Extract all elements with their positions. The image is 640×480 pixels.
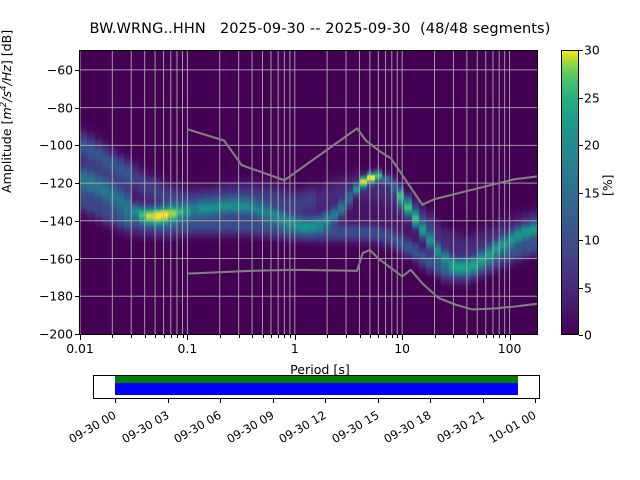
x-tick [239,335,240,338]
figure-title: BW.WRNG..HHN 2025-09-30 -- 2025-09-30 (4… [0,21,640,37]
timeline-tick-label: 09-30 03 [111,408,172,451]
y-tick [75,145,80,146]
colorbar-label: [%] [600,175,615,196]
data-coverage-axes [93,375,540,399]
noise-model-curves [80,51,537,334]
y-tick-label: −60 [31,62,73,77]
x-tick [435,335,436,338]
x-tick [386,335,387,338]
x-tick [131,335,132,338]
timeline-tick [168,399,169,403]
x-tick-label: 10 [394,341,410,356]
timeline-tick [430,399,431,403]
colorbar-tick [579,240,583,241]
x-tick [486,335,487,338]
y-tick-label: −140 [31,213,73,228]
x-tick [505,335,506,338]
y-tick-label: −100 [31,138,73,153]
y-tick [75,183,80,184]
y-tick [75,108,80,109]
timeline-tick-label: 09-30 00 [58,408,119,451]
colorbar-tick-label: 25 [584,90,600,105]
timeline-tick-label: 09-30 18 [373,408,434,451]
coverage-bar-blue [115,383,517,395]
y-tick [75,259,80,260]
ppsd-figure: BW.WRNG..HHN 2025-09-30 -- 2025-09-30 (4… [0,0,640,480]
timeline-tick-label: 10-01 00 [478,408,539,451]
colorbar-tick-label: 5 [584,280,592,295]
x-tick [370,335,371,338]
x-tick-label: 0.01 [66,341,94,356]
timeline-tick-label: 09-30 09 [216,408,277,451]
x-tick [378,335,379,338]
x-tick [164,335,165,338]
y-axis-label-m-exp: 2 [0,102,9,107]
x-tick [284,335,285,338]
timeline-tick [378,399,379,403]
x-tick [499,335,500,338]
y-axis-label-prefix: Amplitude [ [0,120,14,193]
y-axis-label-s-exp: 4 [0,86,9,91]
x-tick [220,335,221,338]
coverage-bar-green [115,376,517,383]
x-tick [171,335,172,338]
colorbar-tick [579,288,583,289]
y-tick-label: −180 [31,289,73,304]
x-tick [155,335,156,338]
timeline-tick-label: 09-30 12 [268,408,329,451]
colorbar-tick [579,50,583,51]
timeline-tick [535,399,536,403]
x-tick [252,335,253,338]
x-tick [145,335,146,338]
x-tick-label: 0.1 [178,341,198,356]
y-axis-label: Amplitude [m2/s4/Hz] [dB] [0,30,14,193]
x-tick [493,335,494,338]
x-tick [177,335,178,338]
x-tick [183,335,184,338]
colorbar-tick-label: 0 [584,328,592,343]
x-tick [397,335,398,338]
timeline-tick-label: 09-30 21 [426,408,487,451]
y-tick-label: −200 [31,327,73,342]
timeline-tick [220,399,221,403]
colorbar-tick-label: 30 [584,43,600,58]
colorbar-tick [579,145,583,146]
x-tick [453,335,454,338]
y-tick-label: −80 [31,100,73,115]
timeline-tick [115,399,116,403]
timeline-tick [325,399,326,403]
x-tick [327,335,328,338]
timeline-tick-label: 09-30 15 [321,408,382,451]
x-tick-label: 100 [498,341,522,356]
colorbar-tick [579,98,583,99]
timeline-tick [483,399,484,403]
y-tick-label: −120 [31,176,73,191]
timeline-tick-label: 09-30 06 [163,408,224,451]
y-tick [75,296,80,297]
x-tick [271,335,272,338]
x-tick [278,335,279,338]
colorbar-tick-label: 15 [584,185,600,200]
y-axis-label-s: /s [0,91,14,102]
colorbar-tick-label: 20 [584,138,600,153]
colorbar-tick [579,193,583,194]
x-tick [112,335,113,338]
x-tick [360,335,361,338]
x-tick-label: 1 [291,341,299,356]
x-tick [402,335,403,340]
y-axis-label-hz: /Hz [0,65,14,85]
x-tick [510,335,511,340]
colorbar-tick [579,335,583,336]
colorbar-tick-label: 10 [584,233,600,248]
x-tick [290,335,291,338]
y-axis-label-suffix: ] [dB] [0,30,14,65]
x-tick [467,335,468,338]
x-tick [263,335,264,338]
x-tick [392,335,393,338]
timeline-tick [273,399,274,403]
y-tick [75,221,80,222]
colorbar [561,50,579,335]
y-axis-label-m: m [0,107,14,119]
y-tick [75,70,80,71]
x-tick [80,335,81,340]
x-tick [187,335,188,340]
x-tick [295,335,296,340]
y-tick [75,334,80,335]
x-tick [346,335,347,338]
y-tick-label: −160 [31,251,73,266]
ppsd-axes [79,50,538,335]
x-tick [477,335,478,338]
